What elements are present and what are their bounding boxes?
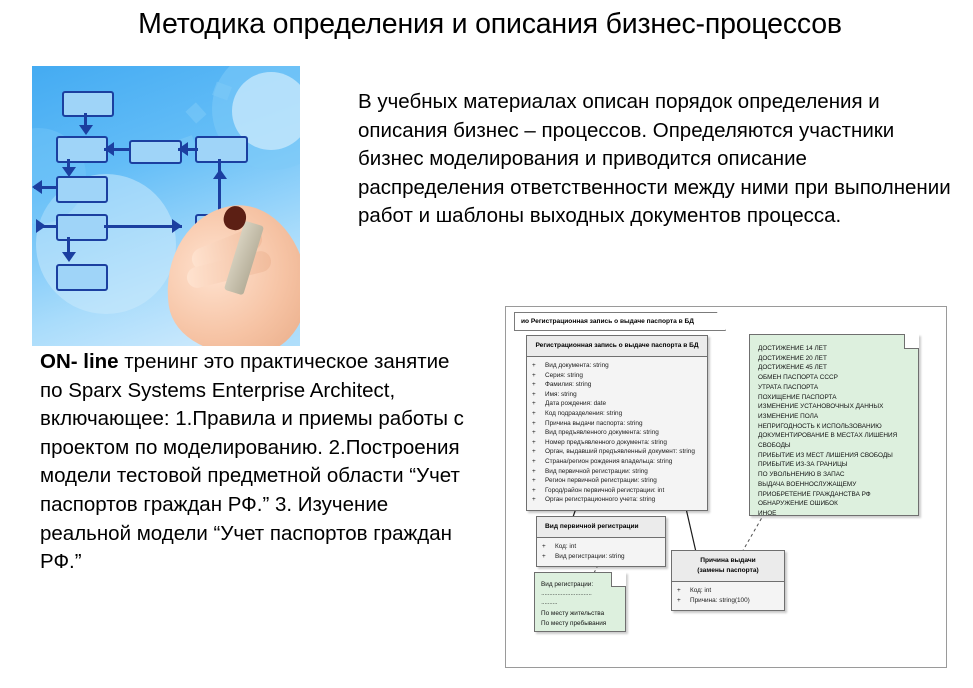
flow-arrow-icon (79, 125, 93, 135)
attribute-row: +Орган регистрационного учета: string (530, 495, 704, 505)
attribute-row: +Дата рождения: date (530, 399, 704, 409)
attribute-row: +Серия: string (530, 371, 704, 381)
attribute-text: Номер предъявленного документа: string (545, 439, 667, 446)
visibility-marker: + (532, 457, 545, 467)
attribute-row: +Вид регистрации: string (540, 552, 662, 562)
gear-tooth-icon (185, 102, 206, 123)
note-line: НЕПРИГОДНОСТЬ К ИСПОЛЬЗОВАНИЮ (758, 422, 912, 432)
visibility-marker: + (532, 361, 545, 371)
attribute-text: Причина выдачи паспорта: string (545, 420, 643, 427)
flow-node (56, 176, 108, 203)
uml-class-registration-record[interactable]: Регистрационная запись о выдаче паспорта… (526, 335, 708, 511)
attribute-row: +Причина: string(100) (675, 596, 781, 606)
attribute-row: +Код подразделения: string (530, 409, 704, 419)
note-line: ДОКУМЕНТИРОВАНИЕ В МЕСТАХ ЛИШЕНИЯ (758, 431, 912, 441)
attribute-row: +Код: int (675, 586, 781, 596)
class-name: Вид первичной регистрации (537, 517, 665, 538)
class-name: Регистрационная запись о выдаче паспорта… (527, 336, 707, 357)
visibility-marker: + (532, 390, 545, 400)
note-line: ОБМЕН ПАСПОРТА СССР (758, 373, 912, 383)
visibility-marker: + (542, 552, 555, 562)
flow-node (195, 136, 248, 163)
visibility-marker: + (532, 428, 545, 438)
note-line: СВОБОДЫ (758, 441, 912, 451)
attribute-row: +Имя: string (530, 390, 704, 400)
page-title: Методика определения и описания бизнес-п… (130, 6, 850, 42)
left-text-block: ON- line тренинг это практическое заняти… (40, 348, 470, 577)
note-line: Вид регистрации: (541, 580, 620, 590)
visibility-marker: + (532, 476, 545, 486)
visibility-marker: + (532, 409, 545, 419)
attribute-text: Фамилия: string (545, 381, 591, 388)
attribute-text: Имя: string (545, 391, 577, 398)
attribute-text: Код: int (555, 543, 576, 550)
uml-note-registration-kinds[interactable]: Вид регистрации: ·······················… (534, 572, 626, 632)
note-line: ПРИБЫТИЕ ИЗ МЕСТ ЛИШЕНИЯ СВОБОДЫ (758, 451, 912, 461)
flow-connector (104, 225, 182, 228)
flow-arrow-icon (32, 180, 42, 194)
visibility-marker: + (532, 495, 545, 505)
flow-arrow-icon (213, 169, 227, 179)
uml-class-primary-registration-type[interactable]: Вид первичной регистрации +Код: int +Вид… (536, 516, 666, 567)
class-attributes: +Вид документа: string +Серия: string +Ф… (527, 357, 707, 510)
attribute-text: Вид документа: string (545, 362, 609, 369)
attribute-text: Вид предъявленного документа: string (545, 429, 659, 436)
visibility-marker: + (542, 542, 555, 552)
attribute-row: +Вид предъявленного документа: string (530, 428, 704, 438)
note-line: УТРАТА ПАСПОРТА (758, 383, 912, 393)
attribute-text: Вид первичной регистрации: string (545, 468, 648, 475)
attribute-text: Регион первичной регистрации: string (545, 477, 657, 484)
hero-image-flowchart-photo (32, 66, 300, 346)
attribute-row: +Причина выдачи паспорта: string (530, 419, 704, 429)
on-line-label: ON- line (40, 350, 119, 373)
flow-node (62, 91, 114, 117)
uml-note-reasons-list[interactable]: ДОСТИЖЕНИЕ 14 ЛЕТ ДОСТИЖЕНИЕ 20 ЛЕТ ДОСТ… (749, 334, 919, 516)
visibility-marker: + (532, 399, 545, 409)
visibility-marker: + (532, 486, 545, 496)
note-line: ДОСТИЖЕНИЕ 14 ЛЕТ (758, 344, 912, 354)
attribute-text: Город/район первичной регистрации: int (545, 487, 664, 494)
flow-arrow-icon (104, 142, 114, 156)
attribute-row: +Вид первичной регистрации: string (530, 467, 704, 477)
note-line: ПРИБЫТИЕ ИЗ-ЗА ГРАНИЦЫ (758, 460, 912, 470)
class-name-line2: (замены паспорта) (676, 566, 780, 576)
visibility-marker: + (532, 380, 545, 390)
attribute-text: Страна/регион рождения владельца: string (545, 458, 672, 465)
flow-arrow-icon (36, 219, 46, 233)
attribute-text: Код: int (690, 587, 711, 594)
visibility-marker: + (532, 371, 545, 381)
visibility-marker: + (677, 586, 690, 596)
note-line: ДОСТИЖЕНИЕ 45 ЛЕТ (758, 363, 912, 373)
note-line: ПО УВОЛЬНЕНИЮ В ЗАПАС (758, 470, 912, 480)
attribute-row: +Город/район первичной регистрации: int (530, 486, 704, 496)
flow-node (56, 264, 108, 291)
flow-arrow-icon (172, 219, 182, 233)
visibility-marker: + (532, 419, 545, 429)
class-name: Причина выдачи (замены паспорта) (672, 551, 784, 582)
visibility-marker: + (532, 467, 545, 477)
note-line: ДОСТИЖЕНИЕ 20 ЛЕТ (758, 354, 912, 364)
note-line: По месту жительства (541, 609, 620, 619)
attribute-text: Вид регистрации: string (555, 553, 625, 560)
uml-class-diagram-panel[interactable]: ио Регистрационная запись о выдаче паспо… (505, 306, 947, 668)
flow-node (56, 136, 108, 163)
note-line: ИЗМЕНЕНИЕ УСТАНОВОЧНЫХ ДАННЫХ (758, 402, 912, 412)
class-name-line1: Причина выдачи (676, 556, 780, 566)
attribute-row: +Страна/регион рождения владельца: strin… (530, 457, 704, 467)
class-attributes: +Код: int +Причина: string(100) (672, 582, 784, 610)
attribute-row: +Код: int (540, 542, 662, 552)
class-attributes: +Код: int +Вид регистрации: string (537, 538, 665, 566)
note-line: ·········· (541, 599, 620, 609)
intro-paragraph: В учебных материалах описан порядок опре… (358, 88, 958, 231)
attribute-row: +Вид документа: string (530, 361, 704, 371)
note-line: ВЫДАЧА ВОЕННОСЛУЖАЩЕМУ (758, 480, 912, 490)
flow-node (56, 214, 108, 241)
note-line: ИЗМЕНЕНИЕ ПОЛА (758, 412, 912, 422)
note-line: ······························· (541, 590, 620, 600)
visibility-marker: + (532, 438, 545, 448)
note-line: ИНОЕ (758, 509, 912, 519)
attribute-text: Орган регистрационного учета: string (545, 496, 655, 503)
attribute-row: +Фамилия: string (530, 380, 704, 390)
attribute-text: Серия: string (545, 372, 583, 379)
visibility-marker: + (677, 596, 690, 606)
flow-node (129, 140, 182, 164)
note-line: ОБНАРУЖЕНИЕ ОШИБОК (758, 499, 912, 509)
note-line: ПРИОБРЕТЕНИЕ ГРАЖДАНСТВА РФ (758, 490, 912, 500)
note-fold-corner-icon (904, 334, 919, 349)
uml-class-issue-reason[interactable]: Причина выдачи (замены паспорта) +Код: i… (671, 550, 785, 611)
visibility-marker: + (532, 447, 545, 457)
attribute-text: Орган, выдавший предъявленный документ: … (545, 448, 695, 455)
note-line: ПОХИЩЕНИЕ ПАСПОРТА (758, 393, 912, 403)
attribute-row: +Номер предъявленного документа: string (530, 438, 704, 448)
attribute-text: Код подразделения: string (545, 410, 622, 417)
note-fold-corner-icon (611, 572, 626, 587)
note-lines: ДОСТИЖЕНИЕ 14 ЛЕТ ДОСТИЖЕНИЕ 20 ЛЕТ ДОСТ… (750, 335, 918, 525)
attribute-row: +Регион первичной регистрации: string (530, 476, 704, 486)
flow-arrow-icon (178, 142, 188, 156)
attribute-row: +Орган, выдавший предъявленный документ:… (530, 447, 704, 457)
attribute-text: Дата рождения: date (545, 400, 606, 407)
note-line: По месту пребывания (541, 619, 620, 629)
flow-connector (218, 159, 221, 215)
attribute-text: Причина: string(100) (690, 597, 750, 604)
flow-arrow-icon (62, 252, 76, 262)
